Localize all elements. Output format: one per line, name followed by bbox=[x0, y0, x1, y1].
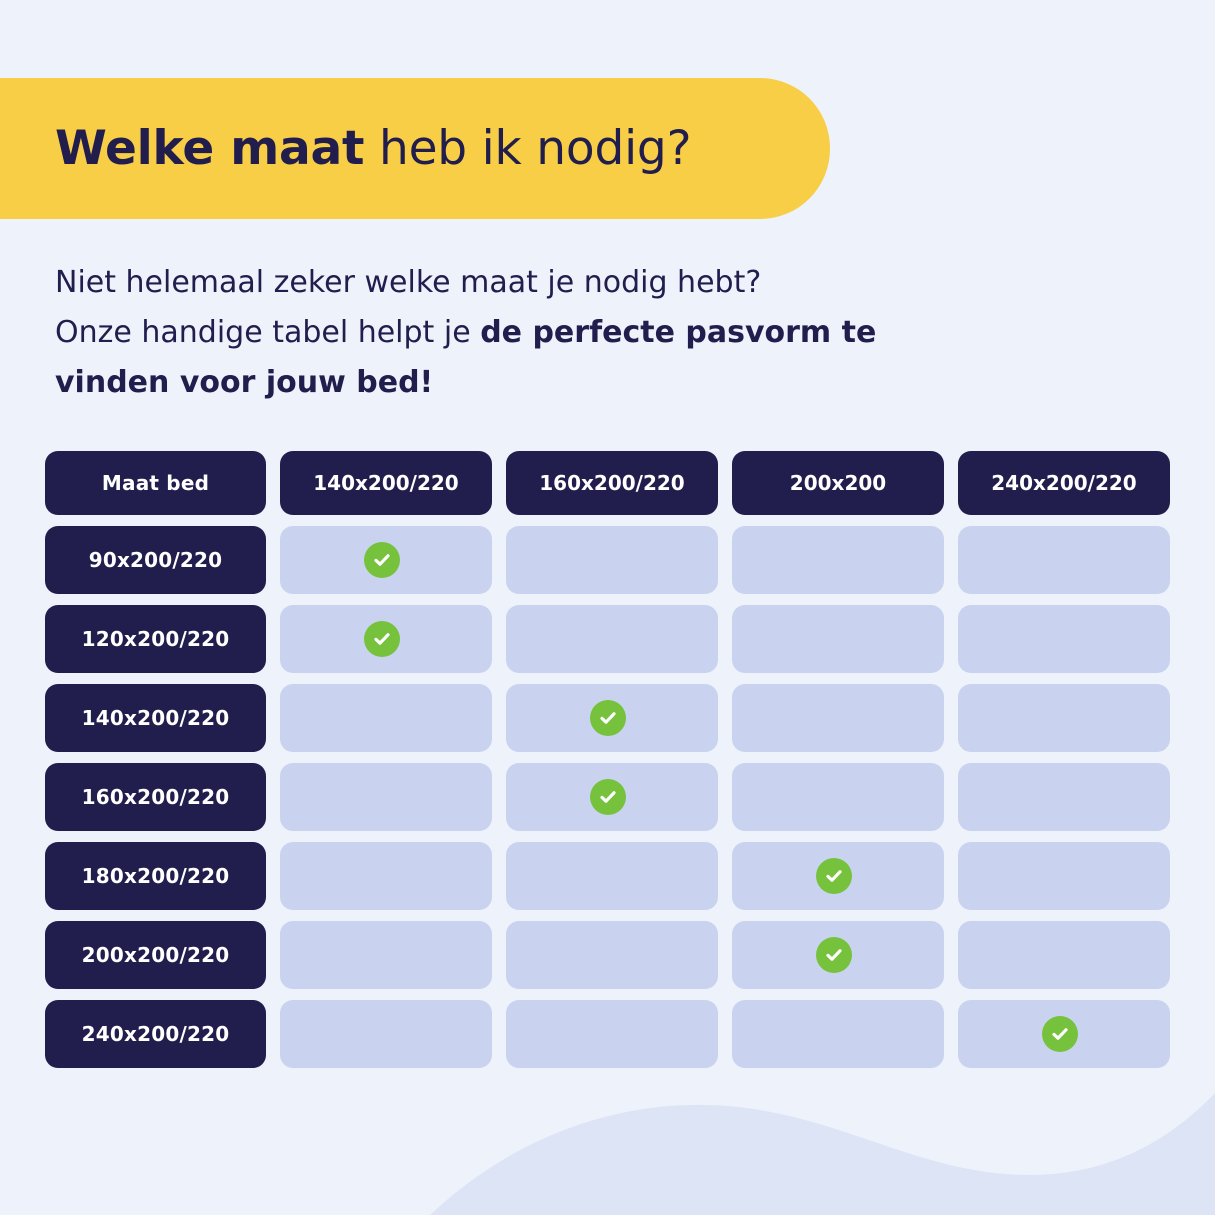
column-header-160x200: 160x200/220 bbox=[506, 451, 718, 515]
column-header-200x200: 200x200 bbox=[732, 451, 944, 515]
table-cell-empty bbox=[506, 605, 718, 673]
empty-marker bbox=[368, 858, 404, 894]
table-cell-empty bbox=[958, 763, 1170, 831]
check-circle-icon bbox=[364, 621, 400, 657]
check-circle-icon bbox=[816, 858, 852, 894]
table-cell-empty bbox=[958, 842, 1170, 910]
empty-marker bbox=[594, 542, 630, 578]
intro-line-2-strong: de perfecte pasvorm te bbox=[480, 315, 876, 350]
check-circle-icon bbox=[590, 779, 626, 815]
intro-line-3: vinden voor jouw bed! bbox=[55, 358, 1035, 408]
empty-marker bbox=[594, 1016, 630, 1052]
column-header-140x200: 140x200/220 bbox=[280, 451, 492, 515]
table-cell-empty bbox=[958, 526, 1170, 594]
table-cell-empty bbox=[280, 842, 492, 910]
table-cell-checked bbox=[280, 605, 492, 673]
table-cell-empty bbox=[958, 921, 1170, 989]
check-circle-icon bbox=[1042, 1016, 1078, 1052]
check-circle-icon bbox=[590, 700, 626, 736]
table-cell-empty bbox=[506, 842, 718, 910]
table-row: 180x200/220 bbox=[45, 842, 1170, 910]
table-cell-checked bbox=[958, 1000, 1170, 1068]
table-row: 160x200/220 bbox=[45, 763, 1170, 831]
empty-marker bbox=[594, 621, 630, 657]
table-cell-checked bbox=[506, 763, 718, 831]
check-circle-icon bbox=[816, 937, 852, 973]
page-title: Welke maat heb ik nodig? bbox=[55, 125, 691, 172]
table-cell-empty bbox=[732, 605, 944, 673]
table-cell-checked bbox=[280, 526, 492, 594]
empty-marker bbox=[1046, 700, 1082, 736]
row-label: 90x200/220 bbox=[45, 526, 266, 594]
empty-marker bbox=[1046, 937, 1082, 973]
row-label: 140x200/220 bbox=[45, 684, 266, 752]
intro-line-1: Niet helemaal zeker welke maat je nodig … bbox=[55, 258, 1035, 308]
table-row: 200x200/220 bbox=[45, 921, 1170, 989]
table-cell-checked bbox=[732, 921, 944, 989]
empty-marker bbox=[368, 700, 404, 736]
table-row: 90x200/220 bbox=[45, 526, 1170, 594]
table-header-row: Maat bed 140x200/220 160x200/220 200x200… bbox=[45, 451, 1170, 515]
column-header-240x200: 240x200/220 bbox=[958, 451, 1170, 515]
empty-marker bbox=[1046, 858, 1082, 894]
table-cell-empty bbox=[732, 526, 944, 594]
empty-marker bbox=[1046, 542, 1082, 578]
empty-marker bbox=[820, 621, 856, 657]
table-cell-empty bbox=[732, 684, 944, 752]
empty-marker bbox=[820, 542, 856, 578]
table-cell-empty bbox=[506, 921, 718, 989]
table-cell-empty bbox=[280, 1000, 492, 1068]
table-row: 120x200/220 bbox=[45, 605, 1170, 673]
empty-marker bbox=[1046, 779, 1082, 815]
intro-line-2: Onze handige tabel helpt je de perfecte … bbox=[55, 308, 1035, 358]
table-cell-empty bbox=[280, 763, 492, 831]
table-cell-empty bbox=[506, 1000, 718, 1068]
intro-line-2-plain: Onze handige tabel helpt je bbox=[55, 315, 480, 350]
table-cell-empty bbox=[732, 1000, 944, 1068]
empty-marker bbox=[594, 937, 630, 973]
size-comparison-table: Maat bed 140x200/220 160x200/220 200x200… bbox=[45, 451, 1170, 1068]
column-header-maat-bed: Maat bed bbox=[45, 451, 266, 515]
table-body: 90x200/220120x200/220140x200/220160x200/… bbox=[45, 526, 1170, 1068]
empty-marker bbox=[368, 937, 404, 973]
empty-marker bbox=[1046, 621, 1082, 657]
empty-marker bbox=[820, 779, 856, 815]
empty-marker bbox=[368, 1016, 404, 1052]
row-label: 160x200/220 bbox=[45, 763, 266, 831]
header-banner: Welke maat heb ik nodig? bbox=[0, 78, 830, 219]
table-cell-empty bbox=[280, 684, 492, 752]
row-label: 200x200/220 bbox=[45, 921, 266, 989]
row-label: 240x200/220 bbox=[45, 1000, 266, 1068]
intro-paragraph: Niet helemaal zeker welke maat je nodig … bbox=[55, 258, 1035, 408]
empty-marker bbox=[820, 700, 856, 736]
empty-marker bbox=[368, 779, 404, 815]
page-title-light: heb ik nodig? bbox=[364, 121, 691, 176]
table-row: 240x200/220 bbox=[45, 1000, 1170, 1068]
row-label: 180x200/220 bbox=[45, 842, 266, 910]
empty-marker bbox=[594, 858, 630, 894]
empty-marker bbox=[820, 1016, 856, 1052]
row-label: 120x200/220 bbox=[45, 605, 266, 673]
check-circle-icon bbox=[364, 542, 400, 578]
table-cell-empty bbox=[958, 605, 1170, 673]
table-cell-empty bbox=[506, 526, 718, 594]
table-cell-empty bbox=[280, 921, 492, 989]
table-cell-checked bbox=[506, 684, 718, 752]
table-cell-empty bbox=[732, 763, 944, 831]
table-row: 140x200/220 bbox=[45, 684, 1170, 752]
table-cell-empty bbox=[958, 684, 1170, 752]
table-cell-checked bbox=[732, 842, 944, 910]
page-title-strong: Welke maat bbox=[55, 121, 364, 176]
